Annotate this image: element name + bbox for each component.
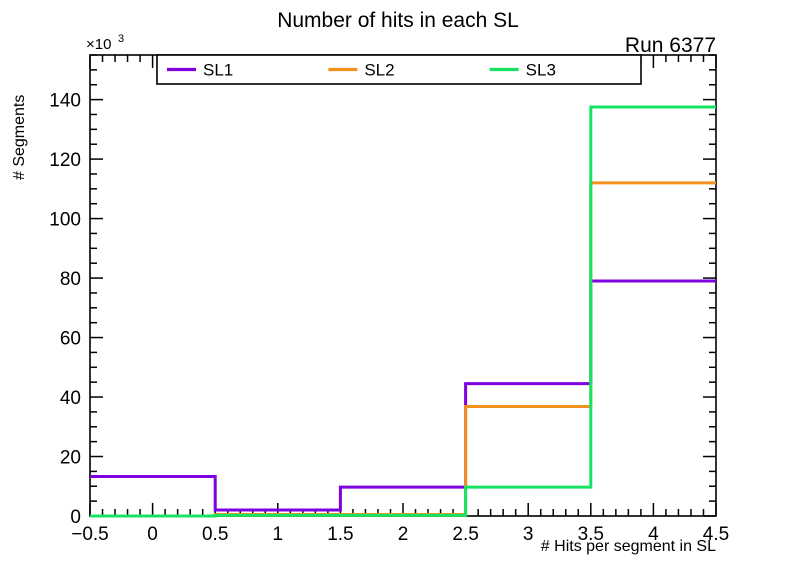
chart-legend[interactable]: SL1SL2SL3 <box>157 55 641 84</box>
y-tick-label: 140 <box>49 91 81 112</box>
x-axis-title: # Hits per segment in SL <box>541 538 716 555</box>
y-tick-label: 80 <box>60 269 81 290</box>
x-tick-label: 3.5 <box>578 524 604 545</box>
y-axis-title: # Segments <box>11 95 28 180</box>
x-tick-label: 2 <box>398 524 409 545</box>
histogram-plot: Number of hits in each SL Run 6377 ×10 3… <box>0 0 796 572</box>
y-tick-label: 60 <box>60 329 81 350</box>
x-tick-label: 0.5 <box>202 524 228 545</box>
x-tick-label: 4 <box>648 524 659 545</box>
chart-canvas: Number of hits in each SL Run 6377 ×10 3… <box>0 0 796 572</box>
y-tick-label: 100 <box>49 210 81 231</box>
y-tick-label: 20 <box>60 448 81 469</box>
x-tick-label: 1 <box>273 524 284 545</box>
page-title: Number of hits in each SL <box>277 9 519 32</box>
y-tick-label: 40 <box>60 388 81 409</box>
legend-label-sl3: SL3 <box>526 61 556 80</box>
legend-label-sl1: SL1 <box>203 61 233 80</box>
x-tick-label: 1.5 <box>327 524 353 545</box>
x-tick-label: 4.5 <box>703 524 729 545</box>
x-tick-label: −0.5 <box>71 524 109 545</box>
y-axis-exponent-power: 3 <box>118 33 124 45</box>
y-axis-exponent-base: ×10 <box>86 36 111 53</box>
x-tick-label: 3 <box>523 524 534 545</box>
y-tick-label: 120 <box>49 150 81 171</box>
run-annotation: Run 6377 <box>625 34 716 57</box>
x-tick-label: 0 <box>147 524 158 545</box>
legend-label-sl2: SL2 <box>364 61 394 80</box>
x-tick-label: 2.5 <box>452 524 478 545</box>
